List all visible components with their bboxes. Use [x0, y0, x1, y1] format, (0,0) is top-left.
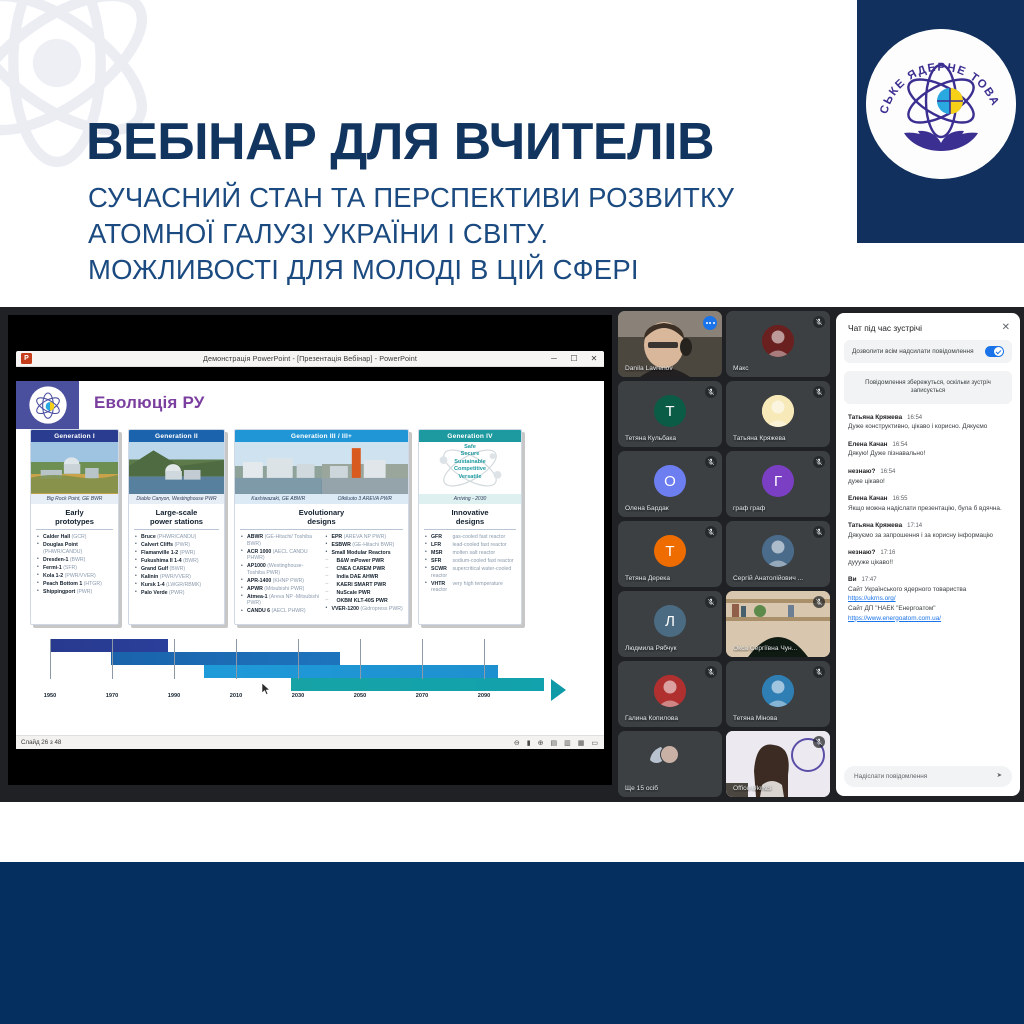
- mic-off-icon: [813, 316, 825, 328]
- participant-tile[interactable]: Danila Lavrenov: [618, 311, 722, 377]
- mic-off-icon: [813, 666, 825, 678]
- avatar: [654, 675, 686, 707]
- timeline-tick-line: [484, 639, 485, 679]
- reactor-item: KAERI SMART PWR: [326, 582, 405, 589]
- gen2-sub2: power stations: [150, 517, 203, 526]
- chat-message-list: Татьяна Кряжева16:54Дуже конструктивно, …: [836, 414, 1020, 766]
- sorter-view-icon[interactable]: ▥: [564, 739, 571, 747]
- timeline-tick-line: [298, 639, 299, 679]
- zoom-out-icon[interactable]: ⊖: [514, 739, 520, 747]
- navy-footer-band: [0, 862, 1024, 1024]
- chat-input-placeholder[interactable]: Надіслати повідомлення: [854, 773, 927, 780]
- chat-message: Елена Качан16:54Дякую! Дуже пізнавально!: [848, 441, 1008, 459]
- timeline-year-label: 2050: [354, 693, 366, 699]
- participant-tile[interactable]: Макс: [726, 311, 830, 377]
- powerpoint-window[interactable]: P Демонстрація PowerPoint - [Презентація…: [16, 351, 604, 763]
- participant-name: Тетяна Кульбака: [625, 435, 702, 442]
- timeline: 19501970199020102030205020702090: [16, 639, 604, 703]
- recording-notice: Повідомлення збережуться, оскільки зустр…: [844, 371, 1012, 404]
- participant-tile[interactable]: ООлена Бардак: [618, 451, 722, 517]
- zoom-slider-icon[interactable]: ▮: [527, 739, 531, 747]
- participant-tile[interactable]: Татьяна Кряжева: [726, 381, 830, 447]
- generation-3-list-left: ABWR (GE-Hitachi/ Toshiba BWR)ACR 1000 (…: [241, 534, 320, 616]
- participant-name: Людмила Рябчук: [625, 645, 702, 652]
- reactor-item: Kola 1-2 (PWR/VVER): [37, 573, 114, 580]
- page-subtitle: СУЧАСНИЙ СТАН ТА ПЕРСПЕКТИВИ РОЗВИТКУ АТ…: [88, 180, 828, 288]
- generation-card-1: Generation I: [30, 429, 119, 625]
- avatar: [762, 535, 794, 567]
- more-options-icon[interactable]: [703, 316, 717, 330]
- reactor-item: Calvert Cliffs (PWR): [135, 542, 220, 549]
- gen1-sub2: prototypes: [55, 517, 94, 526]
- window-titlebar: P Демонстрація PowerPoint - [Презентація…: [16, 351, 604, 367]
- mic-off-icon: [705, 596, 717, 608]
- gen1-sub1: Early: [65, 508, 83, 517]
- generation-1-photo: [31, 442, 118, 494]
- participant-name: Окса Сергіївна Чун...: [733, 645, 810, 652]
- reactor-item: SCWR supercritical water-cooled reactor: [425, 566, 517, 579]
- reactor-item: Bruce (PHWR/CANDU): [135, 534, 220, 541]
- timeline-tick-line: [422, 639, 423, 679]
- participant-tile[interactable]: Сергій Анатолійович ...: [726, 521, 830, 587]
- chat-author: Татьяна Кряжева: [848, 522, 902, 529]
- chat-timestamp: 17:16: [880, 550, 895, 556]
- participant-tile[interactable]: ТТетяна Дерека: [618, 521, 722, 587]
- participant-name: Office UkrNS: [733, 785, 810, 792]
- slide-canvas: Еволюція РУ Generation I: [16, 381, 604, 735]
- generation-4-caption: Arriving - 2030: [419, 494, 521, 504]
- participant-name: Татьяна Кряжева: [733, 435, 810, 442]
- reactor-item: Atmea-1 (Areva NP -Mitsubishi PWR): [241, 594, 320, 607]
- slide-counter: Слайд 26 з 48: [16, 739, 61, 746]
- reactor-item: GFR gas-cooled fast reactor: [425, 534, 517, 541]
- chat-input-row[interactable]: Надіслати повідомлення ➤: [844, 766, 1012, 787]
- participant-tile[interactable]: ТТетяна Кульбака: [618, 381, 722, 447]
- timeline-year-label: 1950: [44, 693, 56, 699]
- reactor-item: Dresden-1 (BWR): [37, 557, 114, 564]
- avatar-group: [650, 745, 690, 777]
- chat-message: Татьяна Кряжева16:54Дуже конструктивно, …: [848, 414, 1008, 432]
- window-title: Демонстрація PowerPoint - [Презентація В…: [16, 354, 604, 363]
- chat-message-header: Елена Качан16:54: [848, 441, 1008, 448]
- mic-off-icon: [813, 526, 825, 538]
- timeline-year-label: 1970: [106, 693, 118, 699]
- participant-tile[interactable]: ЛЛюдмила Рябчук: [618, 591, 722, 657]
- participant-tile[interactable]: Тетяна Мінова: [726, 661, 830, 727]
- gen4-sub1: Innovative: [451, 508, 488, 517]
- generation-4-subtitle: Innovative designs: [424, 504, 516, 530]
- generation-card-4: Generation IV: [418, 429, 522, 625]
- reactor-item: B&W mPower PWR: [326, 558, 405, 565]
- generation-3-header: Generation III / III+: [235, 430, 408, 442]
- generation-2-subtitle: Large-scale power stations: [134, 504, 219, 530]
- send-icon[interactable]: ➤: [997, 773, 1002, 779]
- participant-name: Сергій Анатолійович ...: [733, 575, 810, 582]
- avatar: [762, 675, 794, 707]
- participant-name: Ще 15 осіб: [625, 785, 702, 792]
- allow-everyone-label: Дозволити всім надсилати повідомлення: [852, 348, 974, 355]
- chat-author: Ви: [848, 576, 857, 583]
- mouse-cursor-icon: [262, 683, 271, 695]
- chat-message: Татьяна Кряжева17:14Дякуємо за запрошенн…: [848, 522, 1008, 540]
- chat-timestamp: 16:55: [892, 496, 907, 502]
- participant-name: Олена Бардак: [625, 505, 702, 512]
- reactor-item: AP1000 (Westinghouse-Toshiba PWR): [241, 563, 320, 576]
- generation-1-header: Generation I: [31, 430, 118, 442]
- reactor-item: CANDU 6 (AECL PHWR): [241, 608, 320, 615]
- reactor-item: ABWR (GE-Hitachi/ Toshiba BWR): [241, 534, 320, 547]
- timeline-tick-line: [112, 639, 113, 679]
- chat-message-header: Елена Качан16:55: [848, 495, 1008, 502]
- generation-4-attributes: SafeSecureSustainableCompetitiveVersatil…: [419, 442, 521, 481]
- logo-block: УКРАЇНСЬКЕ ЯДЕРНЕ ТОВАРИСТВО: [857, 0, 1024, 243]
- timeline-year-label: 2070: [416, 693, 428, 699]
- white-band: [0, 802, 1024, 862]
- generation-card-2: Generation II: [128, 429, 225, 625]
- chat-message: Елена Качан16:55Якщо можна надіслати пре…: [848, 495, 1008, 513]
- chat-timestamp: 16:54: [880, 469, 895, 475]
- slide-letterbox-top: [16, 367, 604, 381]
- allow-everyone-toggle-row[interactable]: Дозволити всім надсилати повідомлення: [844, 340, 1012, 363]
- timeline-tick-line: [236, 639, 237, 679]
- reactor-item: VVER-1200 (Gidropress PWR): [326, 606, 405, 613]
- reactor-item: EPR (AREVA NP PWR): [326, 534, 405, 541]
- chat-message-header: Татьяна Кряжева16:54: [848, 414, 1008, 421]
- participant-name: Макс: [733, 365, 810, 372]
- shared-screen[interactable]: P Демонстрація PowerPoint - [Презентація…: [8, 315, 612, 785]
- subtitle-line-3: МОЖЛИВОСТІ ДЛЯ МОЛОДІ В ЦІЙ СФЕРІ: [88, 252, 828, 288]
- timeline-year-label: 2030: [292, 693, 304, 699]
- gen4-attribute: Safe: [419, 444, 521, 451]
- normal-view-icon[interactable]: ▤: [551, 739, 558, 747]
- chat-author: незнаю?: [848, 468, 875, 475]
- chat-panel: Чат під час зустрічі ✕ Дозволити всім на…: [836, 313, 1020, 796]
- chat-timestamp: 16:54: [892, 442, 907, 448]
- chat-author: Татьяна Кряжева: [848, 414, 902, 421]
- chat-author: Елена Качан: [848, 441, 887, 448]
- reactor-item: CNEA CAREM PWR: [326, 566, 405, 573]
- reactor-item: Douglas Point (PHWR/CANDU): [37, 542, 114, 555]
- mic-off-icon: [813, 736, 825, 748]
- reactor-item: Palo Verde (PWR): [135, 590, 220, 597]
- reactor-item: NuScale PWR: [326, 590, 405, 597]
- reactor-item: Calder Hall (GCR): [37, 534, 114, 541]
- gen4-attribute: Sustainable: [419, 459, 521, 466]
- reactor-item: Flamanville 1-2 (PWR): [135, 550, 220, 557]
- participant-tile[interactable]: Галина Копилова: [618, 661, 722, 727]
- generation-3-caption-2: Olkiluoto 3 AREVA PWR: [322, 494, 409, 504]
- gen2-sub1: Large-scale: [156, 508, 198, 517]
- avatar: [762, 395, 794, 427]
- participant-tile[interactable]: Ще 15 осіб: [618, 731, 722, 797]
- reactor-item: LFR lead-cooled fast reactor: [425, 542, 517, 549]
- chat-message-header: Ви17:47: [848, 576, 1008, 583]
- participant-tile[interactable]: Окса Сергіївна Чун...: [726, 591, 830, 657]
- gen4-sub2: designs: [456, 517, 484, 526]
- poster-root: УКРАЇНСЬКЕ ЯДЕРНЕ ТОВАРИСТВО: [0, 0, 1024, 1024]
- reactor-item: ESBWR (GE-Hitachi BWR): [326, 542, 405, 549]
- timeline-year-label: 1990: [168, 693, 180, 699]
- generation-4-graphic: SafeSecureSustainableCompetitiveVersatil…: [419, 442, 521, 494]
- zoom-in-icon[interactable]: ⊕: [538, 739, 544, 747]
- uans-logo: УКРАЇНСЬКЕ ЯДЕРНЕ ТОВАРИСТВО: [866, 29, 1016, 179]
- participant-name: граф граф: [733, 505, 810, 512]
- page-title: ВЕБІНАР ДЛЯ ВЧИТЕЛІВ: [86, 112, 714, 172]
- avatar: [762, 325, 794, 357]
- chat-text: Дякуємо за запрошення і за корисну інфор…: [848, 532, 1008, 541]
- generation-4-list: GFR gas-cooled fast reactorLFR lead-cool…: [419, 530, 521, 599]
- reactor-item: India DAE AHWR: [326, 574, 405, 581]
- slide-logo: [16, 381, 79, 429]
- timeline-year-label: 2090: [478, 693, 490, 699]
- avatar-initial: О: [654, 465, 686, 497]
- mic-off-icon: [813, 596, 825, 608]
- chat-link[interactable]: https://ukrns.org/: [848, 595, 1008, 602]
- reactor-item: Shippingport (PWR): [37, 589, 114, 596]
- reactor-item: Kalinin (PWR/VVER): [135, 574, 220, 581]
- chat-message: незнаю?17:16дуууже цікаво!!: [848, 549, 1008, 567]
- participant-name: Тетяна Мінова: [733, 715, 810, 722]
- timeline-bar-gen1: [50, 639, 168, 652]
- participant-tile[interactable]: Гграф граф: [726, 451, 830, 517]
- slideshow-icon[interactable]: ▭: [591, 739, 598, 747]
- chat-timestamp: 16:54: [907, 415, 922, 421]
- generation-1-caption: Big Rock Point, GE BWR: [31, 494, 118, 504]
- participant-name: Danila Lavrenov: [625, 365, 702, 372]
- chat-author: Елена Качан: [848, 495, 887, 502]
- timeline-year-label: 2010: [230, 693, 242, 699]
- reactor-item: APWR (Mitsubishi PWR): [241, 586, 320, 593]
- generations-row: Generation I: [30, 429, 590, 634]
- reactor-item: APR-1400 (KHNP PWR): [241, 578, 320, 585]
- close-icon[interactable]: ✕: [1002, 323, 1010, 333]
- powerpoint-statusbar: Слайд 26 з 48 ⊖ ▮ ⊕ ▤ ▥ ▦ ▭: [16, 735, 604, 749]
- reactor-item: Grand Gulf (BWR): [135, 566, 220, 573]
- participant-name: Галина Копилова: [625, 715, 702, 722]
- mic-off-icon: [705, 526, 717, 538]
- mic-off-icon: [705, 666, 717, 678]
- meeting-screenshot: P Демонстрація PowerPoint - [Презентація…: [0, 307, 1024, 802]
- mic-off-icon: [813, 386, 825, 398]
- chat-message-header: Татьяна Кряжева17:14: [848, 522, 1008, 529]
- chat-text: Дуже конструктивно, цікаво і корисно. Дя…: [848, 423, 1008, 432]
- chat-timestamp: 17:14: [907, 523, 922, 529]
- generation-4-header: Generation IV: [419, 430, 521, 442]
- timeline-arrow-head: [551, 679, 566, 701]
- subtitle-line-1: СУЧАСНИЙ СТАН ТА ПЕРСПЕКТИВИ РОЗВИТКУ: [88, 180, 828, 216]
- chat-text: Якщо можна надіслати презентацію, була б…: [848, 505, 1008, 514]
- generation-2-photo: [129, 442, 224, 494]
- chat-text-secondary: Сайт ДП "НАЕК "Енергоатом": [848, 605, 1008, 614]
- avatar-initial: Л: [654, 605, 686, 637]
- reactor-item: Kursk 1-4 (LWGR/RBMK): [135, 582, 220, 589]
- generation-2-caption: Diablo Canyon, Westinghouse PWR: [129, 494, 224, 504]
- gen4-attribute: Secure: [419, 451, 521, 458]
- reactor-item: VHTR very high temperature reactor: [425, 581, 517, 594]
- gen3-sub2: designs: [307, 517, 335, 526]
- allow-everyone-switch[interactable]: [985, 346, 1004, 357]
- chat-author: незнаю?: [848, 549, 875, 556]
- generation-2-header: Generation II: [129, 430, 224, 442]
- timeline-bar-gen3: [204, 665, 498, 678]
- generation-3-photo-1: [235, 442, 322, 494]
- timeline-bar-gen4: [291, 678, 544, 691]
- chat-message: незнаю?16:54дуже цікаво!: [848, 468, 1008, 486]
- generation-3-list-right: EPR (AREVA NP PWR)ESBWR (GE-Hitachi BWR)…: [326, 534, 405, 616]
- statusbar-tools: ⊖ ▮ ⊕ ▤ ▥ ▦ ▭: [514, 739, 604, 747]
- gen4-attribute: Versatile: [419, 474, 521, 481]
- participants-grid: Danila LavrenovМаксТТетяна КульбакаТатья…: [618, 311, 830, 798]
- chat-message-header: незнаю?17:16: [848, 549, 1008, 556]
- slide-title: Еволюція РУ: [94, 393, 205, 413]
- participant-name: Тетяна Дерека: [625, 575, 702, 582]
- generation-2-list: Bruce (PHWR/CANDU)Calvert Cliffs (PWR)Fl…: [129, 530, 224, 602]
- chat-message-header: незнаю?16:54: [848, 468, 1008, 475]
- subtitle-line-2: АТОМНОЇ ГАЛУЗІ УКРАЇНИ І СВІТУ.: [88, 216, 828, 252]
- mic-off-icon: [813, 456, 825, 468]
- mic-off-icon: [705, 386, 717, 398]
- chat-timestamp: 17:47: [862, 577, 877, 583]
- chat-text: Сайт Українського ядерного товариства: [848, 586, 1008, 595]
- reactor-item: MSR molten salt reactor: [425, 550, 517, 557]
- timeline-tick-line: [360, 639, 361, 679]
- gen3-sub1: Evolutionary: [299, 508, 344, 517]
- generation-3-caption-1: Kashiwazaki, GE ABWR: [235, 494, 322, 504]
- reactor-item: Fukushima II 1-4 (BWR): [135, 558, 220, 565]
- reactor-item: Small Modular Reactors: [326, 550, 405, 557]
- reactor-item: ACR 1000 (AECL CANDU PHWR): [241, 549, 320, 562]
- timeline-bar-gen2: [111, 652, 340, 665]
- generation-1-subtitle: Early prototypes: [36, 504, 113, 530]
- reactor-item: OKBM KLT-40S PWR: [326, 598, 405, 605]
- gen4-attribute: Competitive: [419, 466, 521, 473]
- timeline-tick-line: [50, 639, 51, 679]
- generation-3-subtitle: Evolutionary designs: [240, 504, 403, 530]
- participant-tile[interactable]: Office UkrNS: [726, 731, 830, 797]
- chat-text: дуже цікаво!: [848, 478, 1008, 487]
- chat-text: дуууже цікаво!!: [848, 559, 1008, 568]
- reactor-item: Peach Bottom 1 (HTGR): [37, 581, 114, 588]
- chat-title: Чат під час зустрічі: [848, 323, 922, 333]
- reactor-item: Fermi-1 (SFR): [37, 565, 114, 572]
- reactor-item: SFR sodium-cooled fast reactor: [425, 558, 517, 565]
- timeline-tick-line: [174, 639, 175, 679]
- generation-1-list: Calder Hall (GCR)Douglas Point (PHWR/CAN…: [31, 530, 118, 600]
- chat-text: Дякую! Дуже пізнавально!: [848, 450, 1008, 459]
- avatar-initial: Т: [654, 535, 686, 567]
- chat-link-secondary[interactable]: https://www.energoatom.com.ua/: [848, 615, 1008, 622]
- generation-card-3: Generation III / III+: [234, 429, 409, 625]
- chat-header: Чат під час зустрічі ✕: [836, 313, 1020, 340]
- mic-off-icon: [705, 456, 717, 468]
- avatar-initial: Г: [762, 465, 794, 497]
- chat-message: Ви17:47Сайт Українського ядерного товари…: [848, 576, 1008, 621]
- avatar-initial: Т: [654, 395, 686, 427]
- reading-view-icon[interactable]: ▦: [578, 739, 585, 747]
- generation-3-photo-2: [322, 442, 409, 494]
